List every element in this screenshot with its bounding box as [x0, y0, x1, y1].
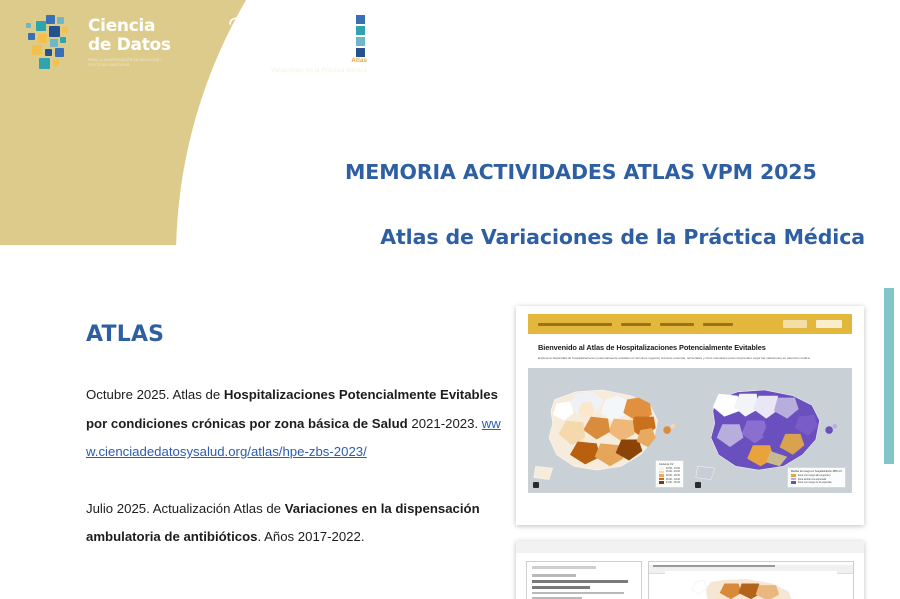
legend-swatch	[659, 478, 664, 481]
indicator-group-label	[532, 574, 576, 577]
legend-right-label-2: Zona con riesgo de la esperada	[798, 481, 832, 484]
vpm-25-anniversary-icon: años	[224, 12, 264, 62]
legend-right-label-0: Zona con riesgo alto (superior)	[798, 474, 831, 477]
mini-nav-item-1	[621, 323, 651, 326]
indicator-map	[649, 571, 853, 599]
entry2-suffix: . Años 2017-2022.	[257, 529, 364, 544]
vpm-dots-icon	[356, 12, 365, 57]
legend-left-row-4: 34.00 - 90.00	[659, 481, 680, 484]
legend-right-row-1: Zona similar a la esperada	[791, 478, 842, 481]
legend-left-label-0: 10.00 - 15.00	[666, 467, 680, 470]
screenshot-2-topbar	[516, 541, 864, 553]
atlas-entry-1: Octubre 2025. Atlas de Hospitalizaciones…	[86, 381, 501, 467]
mini-navbar	[528, 314, 852, 334]
ciencia-de-datos-logo: Ciencia de Datos PARA LA INVESTIGACIÓN E…	[26, 15, 180, 71]
mini-nav-brand-vpm	[816, 320, 842, 328]
mosaic-icon	[26, 15, 82, 71]
vpm-atlas-label: Atlas	[271, 58, 367, 64]
legend-swatch	[791, 478, 796, 481]
slide: Ciencia de Datos PARA LA INVESTIGACIÓN E…	[0, 0, 900, 599]
cds-line-1: Ciencia	[88, 18, 180, 35]
mini-heading: Bienvenido al Atlas de Hospitalizaciones…	[538, 343, 842, 352]
indicator-sidebar-title	[532, 566, 596, 569]
screenshot-card-atlas-hpe[interactable]: Bienvenido al Atlas de Hospitalizaciones…	[516, 306, 864, 525]
legend-left-row-1: 15.00 - 20.00	[659, 470, 680, 473]
vpm-wordmark: VPM	[271, 12, 353, 43]
screenshot-1-inner: Bienvenido al Atlas de Hospitalizaciones…	[516, 306, 864, 525]
legend-swatch	[659, 471, 664, 474]
legend-left-title: Cociente CV	[659, 463, 680, 466]
legend-left-label-4: 34.00 - 90.00	[666, 481, 680, 484]
legend-right-label-1: Zona similar a la esperada	[798, 478, 826, 481]
screenshot-card-antibioticos[interactable]	[516, 541, 864, 599]
indicator-sidebar[interactable]	[526, 561, 642, 599]
map-pair: Cociente CV 10.00 - 15.00 15.00 - 20.00 …	[528, 368, 852, 493]
legend-swatch	[659, 474, 664, 477]
content-column: ATLAS Octubre 2025. Atlas de Hospitaliza…	[86, 322, 501, 580]
legend-right-title: Medias de riesgo en hospitalización ZBS …	[791, 470, 842, 473]
map-left-container: Cociente CV 10.00 - 15.00 15.00 - 20.00 …	[528, 368, 690, 493]
cds-subtitle: PARA LA INVESTIGACIÓN EN SERVICIOS Y POL…	[88, 58, 180, 68]
indicator-map-panel	[648, 561, 854, 599]
legend-left-row-2: 20.00 - 26.00	[659, 474, 680, 477]
map-legend-right: Medias de riesgo en hospitalización ZBS …	[787, 467, 846, 488]
legend-left-label-2: 20.00 - 26.00	[666, 474, 680, 477]
mini-body: Bienvenido al Atlas de Hospitalizaciones…	[528, 334, 852, 362]
vpm-logo: años VPM Atlas Variaciones en la Práctic…	[224, 12, 367, 74]
vpm-tagline: Variaciones en la Práctica Médica	[271, 67, 367, 74]
legend-left-row-3: 26.00 - 34.00	[659, 478, 680, 481]
indicator-item-1[interactable]	[532, 592, 624, 595]
entry1-prefix: Octubre 2025. Atlas de	[86, 387, 224, 402]
page-subtitle: Atlas de Variaciones de la Práctica Médi…	[345, 225, 865, 249]
entry1-suffix: 2021-2023.	[408, 416, 482, 431]
legend-right-row-0: Zona con riesgo alto (superior)	[791, 474, 842, 477]
entry2-prefix: Julio 2025. Actualización Atlas de	[86, 501, 285, 516]
page-title: MEMORIA ACTIVIDADES ATLAS VPM 2025	[345, 160, 865, 184]
mini-nav-item-2	[660, 323, 694, 326]
legend-left-label-1: 15.00 - 20.00	[666, 470, 680, 473]
screenshot-2-inner	[516, 541, 864, 599]
legend-swatch	[791, 474, 796, 477]
section-heading-atlas: ATLAS	[86, 322, 501, 347]
map-right-zoom-button[interactable]	[695, 482, 701, 488]
mini-nav-brand-cds	[783, 320, 807, 328]
legend-left-label-3: 26.00 - 34.00	[666, 478, 680, 481]
ciencia-de-datos-text: Ciencia de Datos PARA LA INVESTIGACIÓN E…	[88, 18, 180, 68]
teal-accent-bar	[884, 288, 894, 464]
indicator-item-0[interactable]	[532, 580, 628, 583]
mini-paragraph: Explora la disparidad de hospitalizacion…	[538, 356, 842, 362]
legend-swatch	[659, 467, 664, 470]
atlas-entry-2: Julio 2025. Actualización Atlas de Varia…	[86, 495, 501, 552]
vpm-top: VPM	[271, 12, 367, 57]
map-right-container: Medias de riesgo en hospitalización ZBS …	[690, 368, 852, 493]
mini-nav-item-3	[703, 323, 733, 326]
cds-line-2: de Datos	[88, 37, 180, 54]
indicator-item-0b[interactable]	[532, 586, 590, 589]
legend-left-row-0: 10.00 - 15.00	[659, 467, 680, 470]
vpm-main: VPM Atlas Variaciones en la Práctica Méd…	[271, 12, 367, 74]
screenshot-2-body	[516, 553, 864, 599]
mini-nav-item-0	[538, 323, 612, 326]
vpm-anos-label: años	[226, 46, 241, 53]
right-margin-strip	[892, 0, 900, 599]
indicator-map-title	[653, 565, 775, 568]
title-block: MEMORIA ACTIVIDADES ATLAS VPM 2025 Atlas…	[345, 160, 865, 249]
legend-right-row-2: Zona con riesgo de la esperada	[791, 481, 842, 484]
map-left-zoom-button[interactable]	[533, 482, 539, 488]
logo-row: Ciencia de Datos PARA LA INVESTIGACIÓN E…	[26, 12, 367, 74]
map-legend-left: Cociente CV 10.00 - 15.00 15.00 - 20.00 …	[655, 460, 684, 488]
legend-swatch	[791, 481, 796, 484]
legend-swatch	[659, 481, 664, 484]
